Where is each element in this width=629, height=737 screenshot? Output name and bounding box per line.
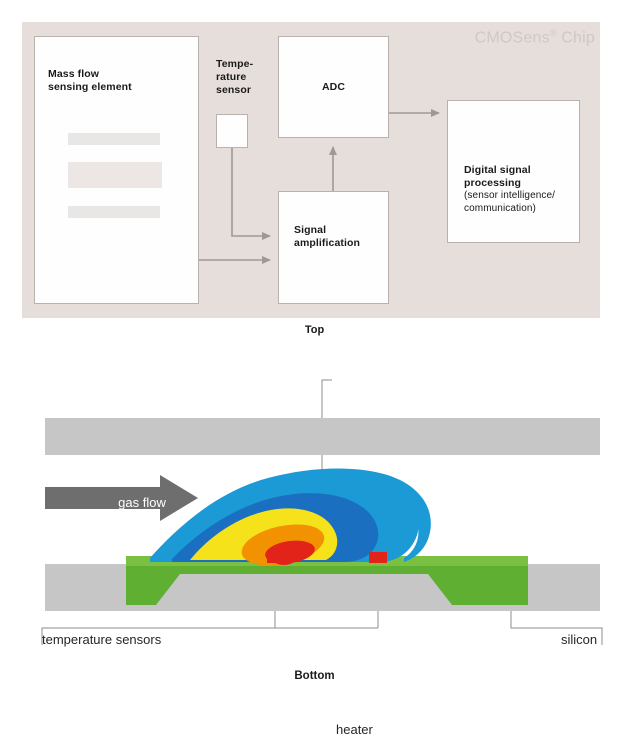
temperature-sensor-element-left <box>267 552 284 563</box>
sensing-element-trace-3 <box>68 206 160 218</box>
top-block-diagram: CMOSens® Chip Mass flow sensing element … <box>0 0 629 352</box>
block-label-temperature-sensor: Tempe- rature sensor <box>216 58 276 97</box>
block-label-adc: ADC <box>278 81 389 94</box>
top-figure-caption: Top <box>0 324 629 336</box>
amp-line-1: Signal <box>294 224 389 237</box>
label-gas-flow: gas flow <box>82 495 202 510</box>
block-label-signal-amplification: Signal amplification <box>294 224 389 250</box>
temp-sensor-line-2: rature <box>216 71 276 84</box>
registered-trademark-icon: ® <box>550 28 557 38</box>
sensing-element-trace-1 <box>68 133 160 145</box>
temp-sensor-line-3: sensor <box>216 84 276 97</box>
dsp-sub-line-2: communication) <box>464 203 574 216</box>
cmosens-watermark-tail: Chip <box>557 29 595 46</box>
dsp-line-1: Digital signal <box>464 164 574 177</box>
sensing-element-trace-2 <box>68 162 162 188</box>
cmosens-watermark-text: CMOSens <box>475 29 550 46</box>
block-label-mass-flow: Mass flow sensing element <box>48 68 188 94</box>
bottom-figure-caption: Bottom <box>0 670 629 682</box>
label-silicon: silicon <box>561 632 597 647</box>
cmosens-chip-watermark: CMOSens® Chip <box>455 28 595 47</box>
label-temperature-sensors: temperature sensors <box>42 632 161 647</box>
temperature-sensor-element-right <box>369 552 387 563</box>
block-temperature-sensor[interactable] <box>216 114 248 148</box>
block-label-digital-signal-processing: Digital signal processing (sensor intell… <box>464 164 574 215</box>
mass-flow-line-2: sensing element <box>48 81 188 94</box>
dsp-line-2: processing <box>464 177 574 190</box>
dsp-sub-line-1: (sensor intelligence/ <box>464 190 574 203</box>
mass-flow-line-1: Mass flow <box>48 68 188 81</box>
amp-line-2: amplification <box>294 237 389 250</box>
label-heater: heater <box>336 722 373 737</box>
temp-sensor-line-1: Tempe- <box>216 58 276 71</box>
channel-wall-top <box>45 418 600 455</box>
